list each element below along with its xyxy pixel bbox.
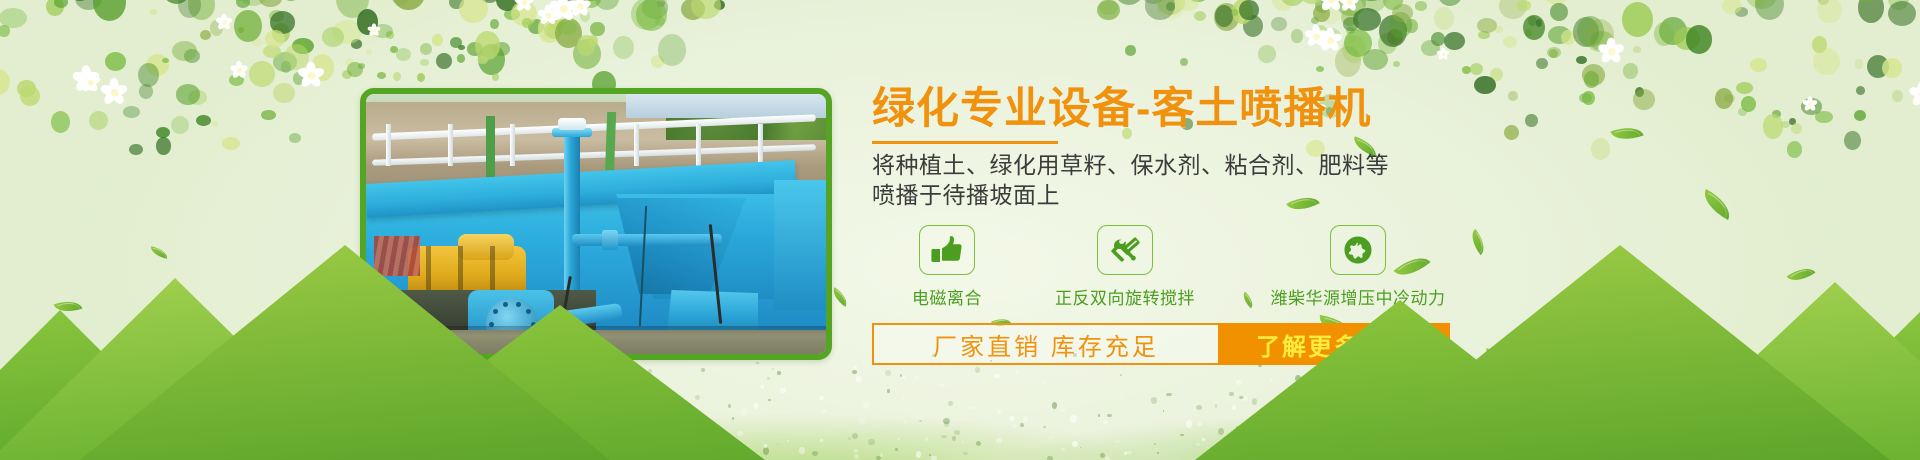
grass-speck (856, 376, 862, 383)
description-line-1: 将种植土、绿化用草籽、保水剂、粘合剂、肥料等 (872, 151, 1572, 181)
photo-rail-post (634, 124, 639, 166)
grass-speck (1206, 446, 1209, 449)
wrench-screwdriver-icon (1097, 225, 1153, 275)
grass-speck (736, 388, 738, 390)
grass-speck (820, 439, 823, 442)
feature-item-weichai-power[interactable]: 潍柴华源增压中冷动力 (1228, 225, 1488, 309)
grass-speck (1042, 380, 1047, 384)
grass-speck (1155, 448, 1157, 449)
grass-speck (915, 376, 920, 381)
grass-speck (1270, 379, 1272, 380)
grass-speck (994, 374, 1000, 379)
grass-speck (767, 377, 769, 379)
grass-speck (1072, 441, 1078, 447)
grass-speck (799, 447, 805, 455)
photo-engine-cap (458, 234, 514, 260)
grass-speck (1252, 398, 1257, 404)
grass-speck (1047, 456, 1053, 460)
blossom-icon (297, 61, 324, 88)
grass-speck (952, 436, 956, 441)
grass-speck (1122, 393, 1124, 396)
grass-speck (1202, 438, 1205, 442)
grass-speck (852, 370, 857, 374)
blossom-icon (1339, 0, 1359, 12)
grass-speck (897, 438, 900, 440)
blossom-icon (1437, 47, 1450, 60)
grass-speck (1151, 397, 1157, 403)
blossom-icon (1803, 96, 1818, 111)
blossom-icon (549, 0, 577, 22)
grass-speck (1020, 423, 1024, 427)
grass-speck (948, 401, 953, 406)
grass-speck (1098, 414, 1101, 417)
blossom-icon (1317, 27, 1342, 52)
grass-speck (1049, 399, 1051, 401)
feature-item-bidirectional-mixing[interactable]: 正反双向旋转搅拌 (1022, 225, 1228, 309)
grass-speck (919, 420, 922, 422)
banner-content: 绿化专业设备-客土喷播机 将种植土、绿化用草籽、保水剂、粘合剂、肥料等 喷播于待… (872, 86, 1572, 365)
grass-speck (1120, 374, 1123, 376)
grass-speck (852, 433, 858, 439)
grass-speck (976, 441, 982, 446)
grass-speck (754, 403, 759, 408)
grass-speck (1180, 434, 1184, 437)
grass-speck (1196, 405, 1202, 410)
grass-speck (780, 388, 785, 392)
grass-speck (1103, 420, 1108, 424)
grass-speck (1218, 428, 1224, 436)
grass-speck (1070, 415, 1076, 423)
grass-speck (1010, 416, 1014, 421)
grass-speck (1242, 396, 1248, 401)
grass-speck (963, 452, 967, 455)
gear-ring-icon (1330, 225, 1386, 275)
feature-list: 电磁离合 正反双向旋转搅拌 (872, 225, 1572, 309)
grass-speck (648, 369, 652, 372)
grass-speck (1197, 422, 1202, 426)
promo-banner: 绿化专业设备-客土喷播机 将种植土、绿化用草籽、保水剂、粘合剂、肥料等 喷播于待… (0, 0, 1920, 460)
grass-speck (1015, 371, 1018, 374)
grass-speck (975, 367, 980, 373)
grass-speck (756, 362, 759, 364)
grass-speck (931, 456, 937, 460)
photo-green-beam (486, 116, 495, 178)
grass-speck (1229, 392, 1233, 396)
grass-speck (1115, 440, 1119, 443)
grass-speck (885, 370, 891, 376)
description: 将种植土、绿化用草籽、保水剂、粘合剂、肥料等 喷播于待播坡面上 (872, 151, 1572, 211)
grass-speck (895, 448, 898, 451)
grass-speck (854, 454, 859, 459)
grass-speck (1105, 456, 1110, 460)
description-line-2: 喷播于待播坡面上 (872, 181, 1572, 211)
grass-speck (876, 456, 881, 460)
grass-speck (904, 421, 907, 424)
grass-speck (863, 401, 869, 408)
page-title: 绿化专业设备-客土喷播机 (872, 86, 1572, 132)
blossom-icon (79, 72, 101, 94)
grass-speck (941, 435, 947, 439)
photo-rail-post (448, 124, 453, 166)
grass-speck (1236, 380, 1242, 384)
blossom-icon (569, 0, 591, 17)
photo-rail-post (696, 124, 701, 166)
photo-rail-post (386, 124, 391, 166)
grass-speck (1012, 424, 1016, 428)
photo-rail-post (510, 124, 515, 166)
grass-speck (902, 397, 905, 399)
feature-label: 电磁离合 (912, 284, 982, 309)
grass-speck (1043, 426, 1046, 428)
grass-speck (1049, 436, 1052, 439)
grass-speck (1124, 452, 1127, 455)
grass-speck (1233, 377, 1235, 378)
grass-speck (925, 437, 928, 441)
grass-speck (916, 451, 922, 458)
grass-speck (768, 399, 771, 402)
grass-speck (962, 441, 964, 443)
photo-brick (374, 236, 420, 276)
blossom-icon (230, 61, 248, 79)
grass-speck (854, 366, 857, 369)
grass-speck (940, 383, 945, 387)
grass-speck (1061, 448, 1066, 452)
feature-item-electromagnetic-clutch[interactable]: 电磁离合 (872, 225, 1022, 309)
grass-speck (868, 439, 874, 446)
grass-speck (929, 454, 931, 456)
grass-speck (1186, 420, 1192, 427)
grass-speck (1215, 404, 1218, 408)
photo-pipe-h (572, 234, 722, 246)
grass-speck (737, 431, 743, 436)
grass-speck (701, 368, 705, 372)
product-photo-hydroseeder (366, 94, 826, 354)
photo-pump-bolt (516, 302, 521, 307)
photo-flange-cap (558, 118, 586, 130)
blossom-icon (1597, 38, 1624, 65)
grass-speck (854, 449, 858, 453)
grass-speck (944, 421, 949, 427)
leaf-icon (1610, 121, 1643, 145)
cta-slogan: 厂家直销 库存充足 (872, 323, 1218, 365)
feature-label: 正反双向旋转搅拌 (1055, 284, 1195, 309)
thumbs-up-icon (919, 225, 975, 275)
grass-speck (1154, 443, 1157, 445)
grass-speck (1052, 402, 1058, 410)
grass-speck (812, 451, 818, 456)
blossom-icon (72, 65, 100, 93)
grass-speck (1120, 397, 1123, 399)
grass-speck (822, 409, 827, 414)
grass-speck (1061, 409, 1067, 413)
grass-speck (741, 408, 747, 416)
headline-rule (872, 141, 1058, 144)
blossom-icon (537, 4, 558, 25)
grass-speck (970, 406, 976, 410)
grass-speck (858, 417, 864, 425)
grass-speck (1095, 433, 1098, 435)
grass-speck (1163, 410, 1165, 412)
grass-speck (1166, 393, 1172, 397)
grass-speck (728, 404, 731, 408)
blossom-icon (1305, 24, 1328, 47)
grass-speck (848, 437, 852, 441)
photo-pipe-joint (602, 230, 618, 250)
grass-speck (761, 385, 764, 388)
grass-speck (777, 371, 782, 375)
grass-speck (1107, 414, 1112, 418)
photo-tank-right (774, 180, 826, 310)
grass-speck (787, 440, 789, 442)
photo-rail-post (758, 124, 763, 166)
grass-speck (1023, 416, 1028, 422)
grass-speck (695, 395, 700, 400)
grass-speck (1196, 443, 1200, 446)
photo-column (564, 132, 580, 306)
blossom-icon (100, 78, 128, 106)
grass-speck (1232, 405, 1236, 410)
blossom-icon (1909, 81, 1920, 107)
grass-speck (819, 396, 823, 400)
grass-speck (1157, 452, 1159, 454)
grass-speck (772, 368, 774, 370)
grass-speck (1080, 447, 1082, 449)
grass-speck (996, 438, 1002, 443)
grass-speck (763, 447, 769, 454)
grass-speck (777, 444, 779, 445)
blossom-icon (215, 13, 232, 30)
photo-pump-bolt (493, 309, 498, 314)
grass-speck (954, 430, 959, 434)
photo-pump-bolt (503, 302, 508, 307)
grass-speck (764, 444, 768, 448)
grass-speck (887, 389, 890, 392)
blossom-icon (368, 23, 381, 36)
grass-speck (997, 409, 1001, 413)
blossom-icon (514, 0, 534, 11)
blossom-icon (1317, 0, 1343, 12)
grass-speck (732, 417, 735, 420)
feature-label: 潍柴华源增压中冷动力 (1271, 284, 1446, 309)
